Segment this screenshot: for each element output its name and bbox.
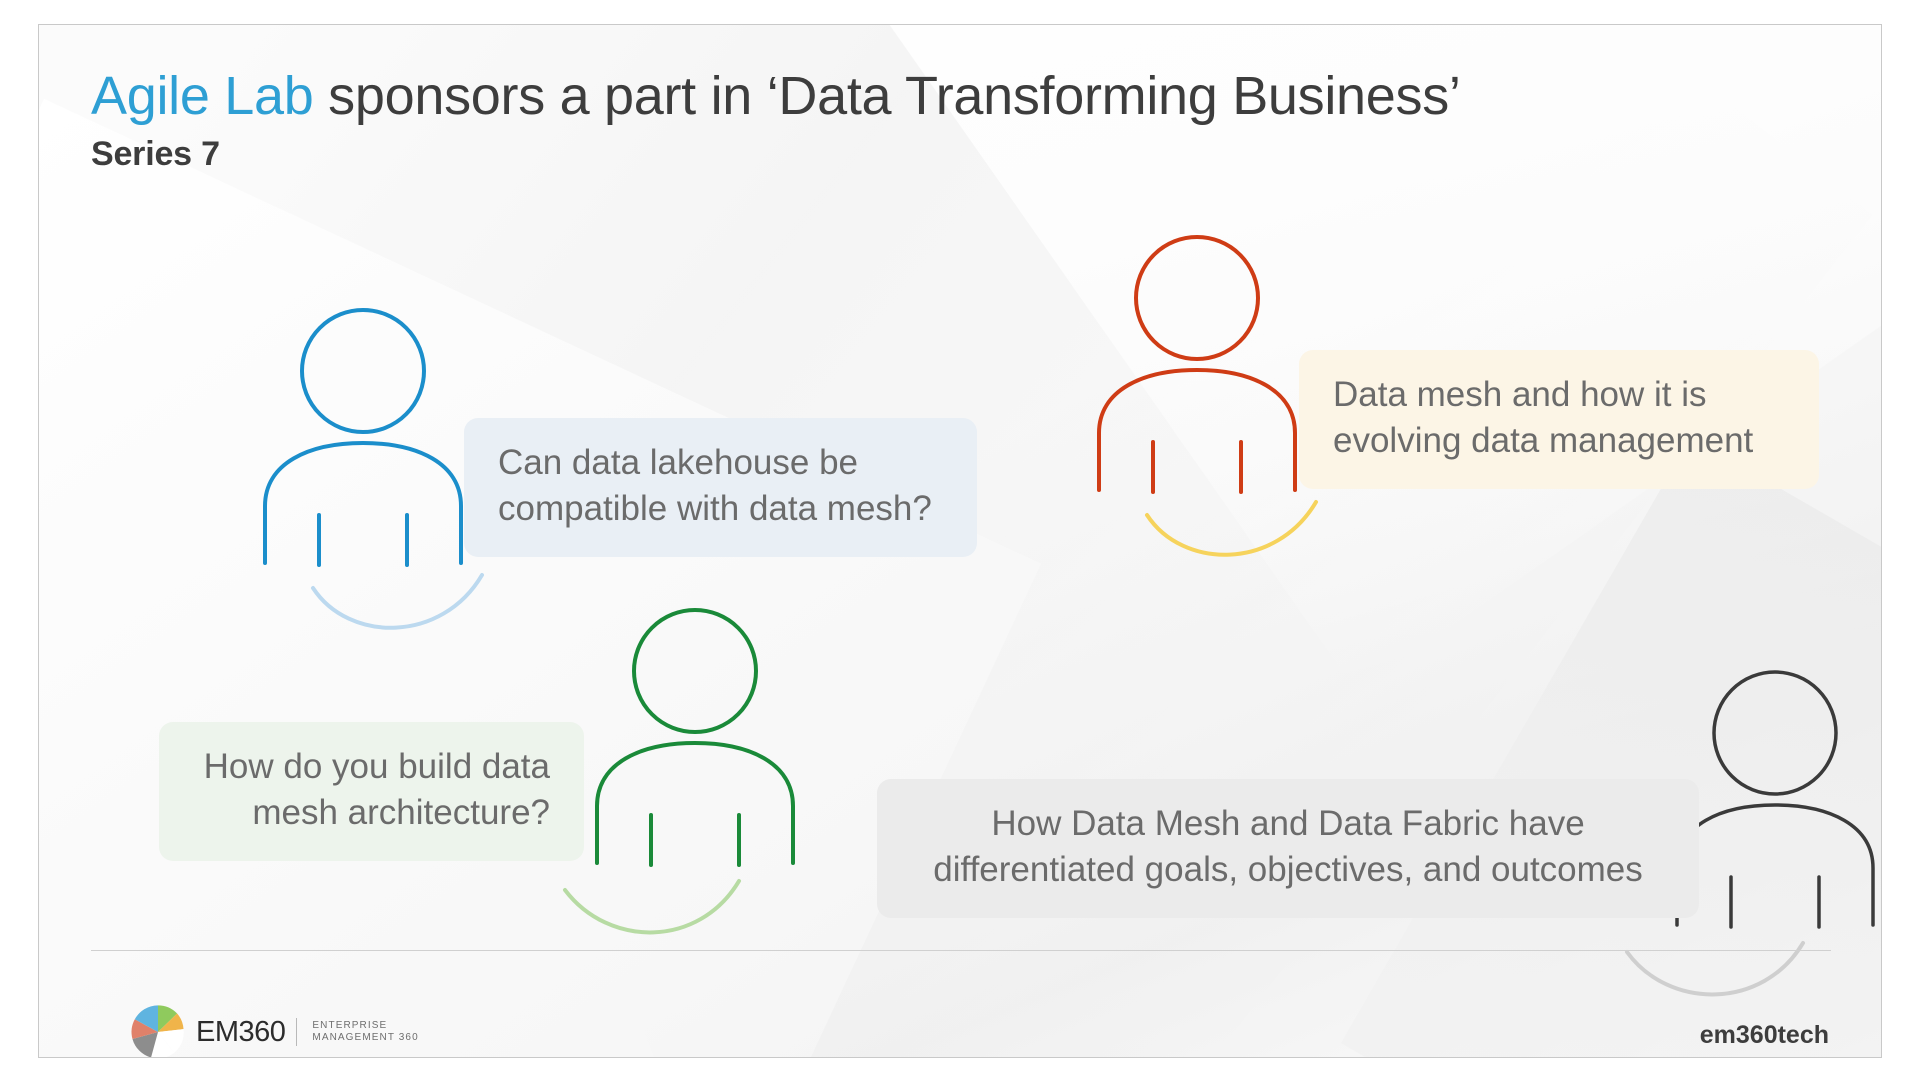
speech-bubble-gray: How Data Mesh and Data Fabric have diffe…: [877, 779, 1699, 918]
speech-bubble-green-line2: mesh architecture?: [193, 790, 550, 836]
em360-tagline-line1: ENTERPRISE: [312, 1020, 418, 1033]
person-head-icon: [1136, 237, 1258, 359]
person-body-icon: [597, 743, 793, 863]
logo-divider: [296, 1018, 297, 1046]
em360-pinwheel-icon: [129, 1003, 187, 1058]
speech-bubble-green: How do you build data mesh architecture?: [159, 722, 584, 861]
speech-bubble-blue-line1: Can data lakehouse be: [498, 440, 943, 486]
slide-canvas: Agile Lab sponsors a part in ‘Data Trans…: [38, 24, 1882, 1058]
page-title: Agile Lab sponsors a part in ‘Data Trans…: [91, 67, 1851, 125]
brand-name: Agile Lab: [91, 66, 313, 126]
person-head-icon: [1714, 672, 1836, 794]
person-head-icon: [634, 610, 756, 732]
speech-bubble-cream-line1: Data mesh and how it is: [1333, 372, 1785, 418]
speech-bubble-blue-line2: compatible with data mesh?: [498, 486, 943, 532]
person-figure-green: [589, 603, 849, 933]
person-head-icon: [302, 310, 424, 432]
person-smile-icon: [1147, 502, 1316, 555]
speech-bubble-gray-line1: How Data Mesh and Data Fabric have: [911, 801, 1665, 847]
footer-divider: [91, 950, 1831, 951]
speech-bubble-green-line1: How do you build data: [193, 744, 550, 790]
person-icon-black: [1669, 665, 1882, 995]
em360-tagline-line2: MANAGEMENT 360: [312, 1032, 418, 1045]
person-smile-icon: [565, 881, 739, 932]
em360-logo: EM360 ENTERPRISE MANAGEMENT 360: [129, 1003, 419, 1058]
speech-bubble-cream: Data mesh and how it is evolving data ma…: [1299, 350, 1819, 489]
em360-wordmark: EM360: [196, 1016, 285, 1049]
person-smile-icon: [313, 575, 482, 628]
person-body-icon: [265, 443, 461, 563]
person-figure-black: [1669, 665, 1882, 995]
page-subtitle: Series 7: [91, 135, 1851, 174]
slide-header: Agile Lab sponsors a part in ‘Data Trans…: [91, 67, 1851, 174]
person-body-icon: [1099, 370, 1295, 490]
em360-tagline: ENTERPRISE MANAGEMENT 360: [312, 1020, 418, 1045]
speech-bubble-blue: Can data lakehouse be compatible with da…: [464, 418, 977, 557]
speech-bubble-gray-line2: differentiated goals, objectives, and ou…: [911, 847, 1665, 893]
page-title-rest: sponsors a part in ‘Data Transforming Bu…: [313, 66, 1460, 126]
em360tech-handle: em360tech: [1700, 1021, 1829, 1050]
person-body-icon: [1677, 805, 1873, 925]
person-icon-green: [589, 603, 849, 933]
speech-bubble-cream-line2: evolving data management: [1333, 418, 1785, 464]
